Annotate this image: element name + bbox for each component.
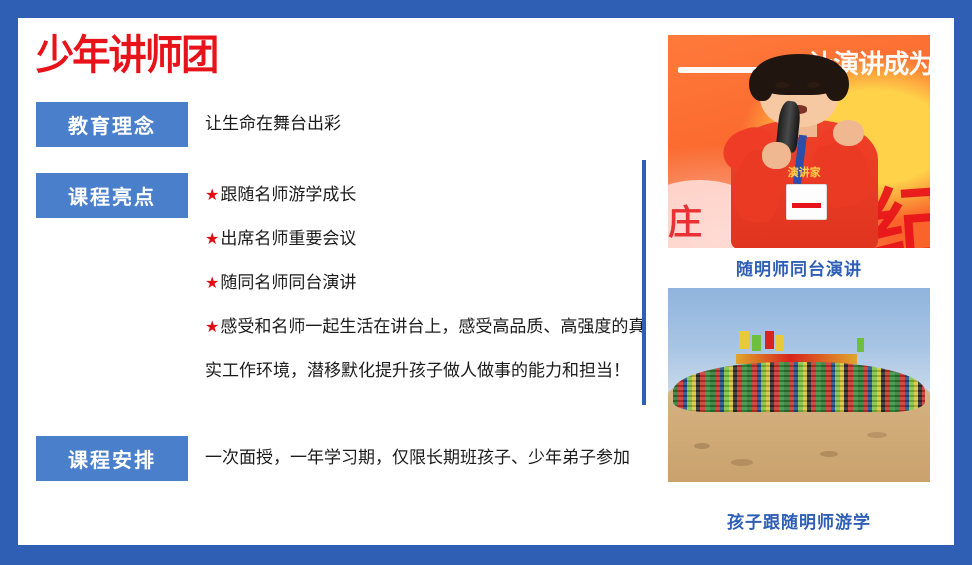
row-text-education-philosophy: 让生命在舞台出彩	[205, 102, 341, 146]
flag-icon	[775, 335, 784, 351]
list-item-label: 随同名师同台演讲	[220, 273, 356, 292]
list-item: ★跟随名师游学成长	[205, 173, 650, 217]
media-column: —让演讲成为 纪 庄 演讲家 随明师同台演讲	[668, 18, 954, 545]
photo-decor-character-2: 庄	[668, 195, 702, 244]
list-item: ★出席名师重要会议	[205, 217, 650, 261]
sand-texture	[731, 459, 753, 466]
photo-caption-2: 孩子跟随明师游学	[668, 508, 930, 533]
list-item: ★感受和名师一起生活在讲台上，感受高品质、高强度的真实工作环境，潜移默化提升孩子…	[205, 305, 653, 393]
photo-subject-hair-right	[825, 67, 849, 101]
star-icon: ★	[205, 273, 220, 292]
sand-texture	[820, 451, 838, 457]
flag-icon	[739, 331, 749, 349]
star-icon: ★	[205, 229, 220, 248]
photo-desert-group	[668, 288, 930, 482]
photo-boy-speaking: —让演讲成为 纪 庄 演讲家	[668, 35, 930, 248]
star-icon: ★	[205, 185, 220, 204]
list-item-label: 感受和名师一起生活在讲台上，感受高品质、高强度的真实工作环境，潜移默化提升孩子做…	[205, 317, 645, 380]
poster-frame: 少年讲师团 教育理念 让生命在舞台出彩 课程亮点 ★跟随名师游学成长 ★出席名师…	[18, 18, 954, 545]
sand-texture	[867, 432, 887, 438]
list-item-label: 跟随名师游学成长	[220, 185, 356, 204]
row-tag-education-philosophy: 教育理念	[36, 102, 188, 147]
photo-caption-1: 随明师同台演讲	[668, 255, 930, 280]
photo-subject-hand-left	[762, 142, 791, 170]
vertical-divider	[642, 160, 646, 405]
content-column: 教育理念 让生命在舞台出彩 课程亮点 ★跟随名师游学成长 ★出席名师重要会议 ★…	[18, 18, 648, 545]
photo-subject-badge	[786, 184, 827, 220]
row-tag-course-highlights: 课程亮点	[36, 173, 188, 218]
photo-subject-eye-left	[775, 82, 788, 88]
row-tag-course-schedule: 课程安排	[36, 436, 188, 481]
flag-icon	[752, 335, 761, 351]
course-highlights-list: ★跟随名师游学成长 ★出席名师重要会议 ★随同名师同台演讲 ★感受和名师一起生活…	[205, 173, 650, 393]
photo-subject-hair-left	[749, 67, 773, 101]
photo-subject-hand-right	[833, 120, 864, 146]
star-icon: ★	[205, 317, 220, 336]
flag-icon	[765, 331, 774, 349]
list-item-label: 出席名师重要会议	[220, 229, 356, 248]
row-text-course-schedule: 一次面授，一年学习期，仅限长期班孩子、少年弟子参加	[205, 436, 657, 480]
list-item: ★随同名师同台演讲	[205, 261, 650, 305]
photo-crowd	[673, 362, 925, 412]
flag-icon	[857, 338, 864, 352]
